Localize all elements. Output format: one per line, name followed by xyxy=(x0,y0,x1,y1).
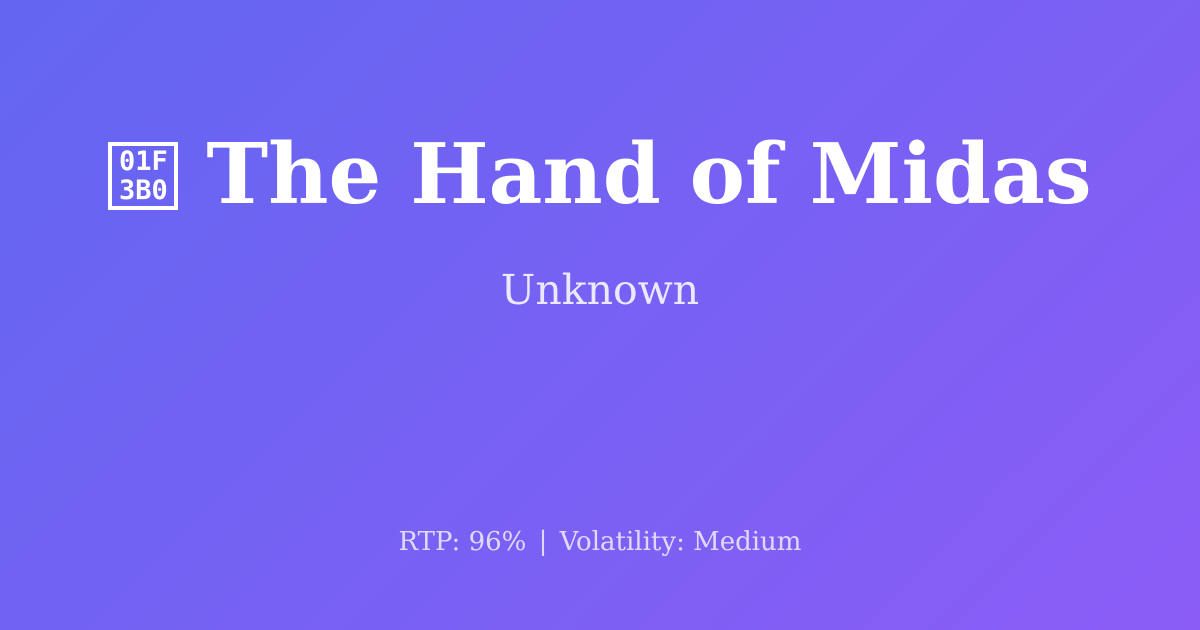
game-title-row: 01F 3B0 The Hand of Midas xyxy=(0,132,1200,217)
volatility-value: Medium xyxy=(693,527,801,557)
slot-machine-icon: 01F 3B0 xyxy=(108,142,178,210)
game-og-card: 01F 3B0 The Hand of Midas Unknown RTP: 9… xyxy=(0,0,1200,630)
game-title: The Hand of Midas xyxy=(206,132,1091,217)
rtp-value: 96% xyxy=(469,527,527,557)
game-header-block: 01F 3B0 The Hand of Midas Unknown xyxy=(0,0,1200,545)
game-provider: Unknown xyxy=(501,268,699,313)
slot-machine-icon-codepoint-top: 01F xyxy=(119,147,168,176)
rtp-label: RTP: xyxy=(399,527,461,557)
game-stats-line: RTP: 96% | Volatility: Medium xyxy=(0,525,1200,559)
slot-machine-icon-codepoint-bottom: 3B0 xyxy=(119,176,168,205)
stats-separator: | xyxy=(535,527,552,557)
volatility-label: Volatility: xyxy=(560,527,685,557)
